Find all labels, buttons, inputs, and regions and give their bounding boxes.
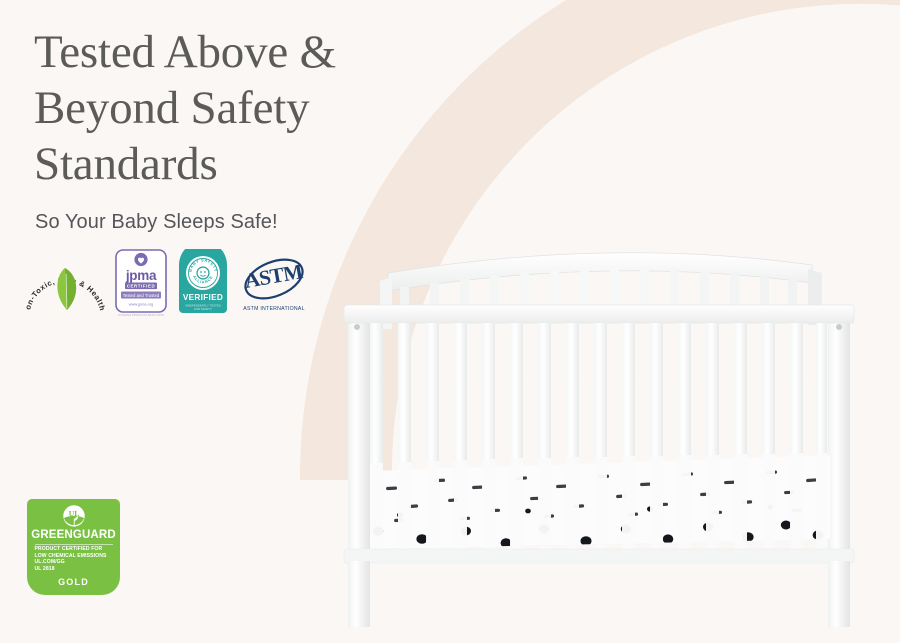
greenguard-fine-print: PRODUCT CERTIFIED FOR LOW CHEMICAL EMISS… <box>35 546 113 572</box>
greenguard-name: GREENGUARD <box>31 529 116 541</box>
badge-jpma: jpma CERTIFIED Tested and Trusted www.jp… <box>112 248 170 318</box>
astm-caption: ASTM INTERNATIONAL <box>243 306 304 312</box>
astm-wordmark: ASTM <box>243 259 305 293</box>
baby-face-icon <box>196 266 209 279</box>
greenguard-level: GOLD <box>58 577 89 587</box>
jpma-tagline-text: Tested and Trusted <box>123 293 160 298</box>
jpma-heart-icon <box>134 253 147 266</box>
jpma-badge-graphic: jpma CERTIFIED Tested and Trusted www.jp… <box>112 248 170 318</box>
non-toxic-badge-graphic: Non-Toxic, Safe & Healthy <box>22 248 108 320</box>
certification-badge-row: Non-Toxic, Safe & Healthy jpma <box>22 248 309 320</box>
badge-baby-safety-alliance: BABY SAFETY ALLIANCE VERIFIED INDEPENDEN… <box>175 249 231 317</box>
crib-right-leg <box>828 561 850 627</box>
headline-block: Tested Above & Beyond Safety Standards S… <box>34 24 434 235</box>
leaf-icon <box>57 268 76 310</box>
greenguard-level-wrap: GOLD <box>27 572 120 595</box>
crib-left-leg <box>348 561 370 627</box>
subheadline: So Your Baby Sleeps Safe! <box>35 209 434 235</box>
headline-line-1: Tested Above & <box>34 24 434 80</box>
bsa-fine-print-1: INDEPENDENTLY TESTED <box>185 304 221 308</box>
right-post-screw-top <box>836 324 842 330</box>
headline-line-2: Beyond Safety <box>34 80 434 136</box>
jpma-brand-text: jpma <box>125 268 157 283</box>
jpma-url-text: www.jpma.org <box>129 302 153 307</box>
greenguard-gold-badge: UL GREENGUARD PRODUCT CERTIFIED FOR LOW … <box>27 499 120 595</box>
safety-standards-banner: Tested Above & Beyond Safety Standards S… <box>0 0 900 643</box>
astm-badge-graphic: ASTM ASTM INTERNATIONAL <box>239 253 309 315</box>
headline-line-3: Standards <box>34 136 434 192</box>
headboard-top-rail <box>388 253 812 291</box>
jpma-certified-text: CERTIFIED <box>127 284 156 289</box>
front-top-rail <box>344 305 854 323</box>
ul-mark-icon: UL <box>54 504 94 528</box>
bsa-fine-print-2: FOR SAFETY <box>194 307 212 311</box>
badge-non-toxic: Non-Toxic, Safe & Healthy <box>22 248 108 320</box>
front-bottom-rail <box>344 549 854 563</box>
greenguard-fine-line-1: PRODUCT CERTIFIED FOR <box>35 546 113 552</box>
bsa-verified-text: VERIFIED <box>183 293 223 302</box>
baby-safety-badge-graphic: BABY SAFETY ALLIANCE VERIFIED INDEPENDEN… <box>175 249 231 317</box>
badge-astm: ASTM ASTM INTERNATIONAL <box>239 253 309 315</box>
jpma-fine-print: JUVENILE PRODUCTS MFRS ASSN <box>118 313 164 317</box>
greenguard-divider <box>35 544 113 545</box>
left-post-screw-top <box>354 324 360 330</box>
crib-product-image <box>330 243 900 643</box>
